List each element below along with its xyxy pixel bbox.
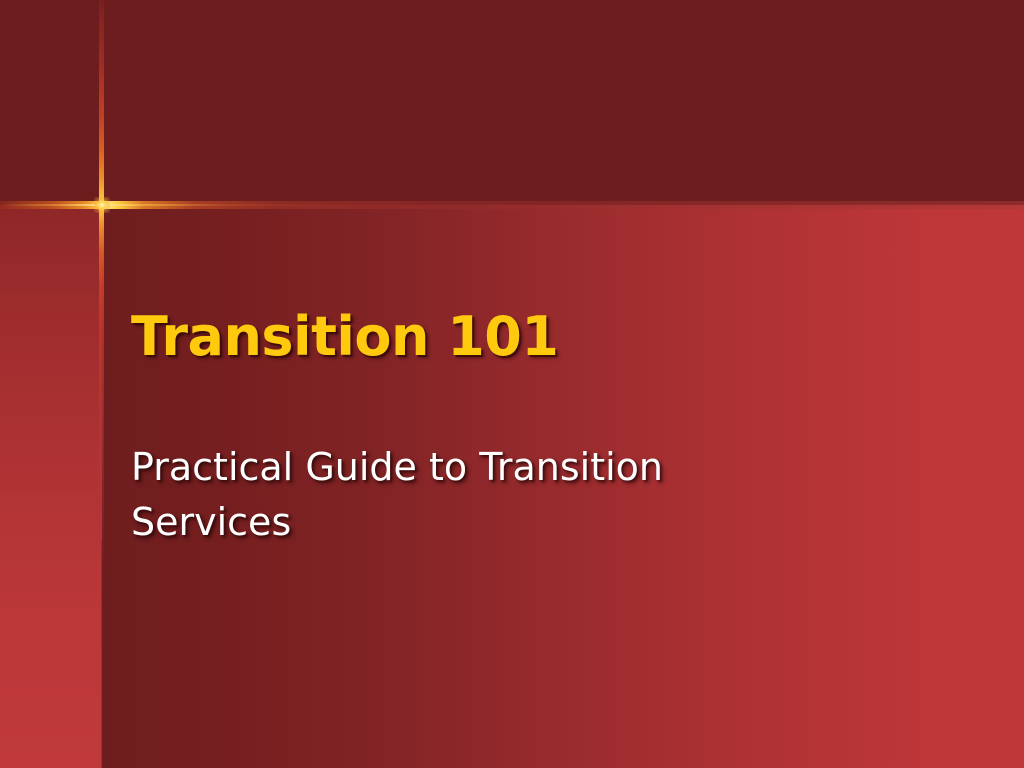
crosshair-vertical-lower-line <box>99 205 104 565</box>
crosshair-horizontal-glow <box>0 204 1024 206</box>
strip-seam <box>101 540 103 768</box>
title-slide: Transition 101 Practical Guide to Transi… <box>0 0 1024 768</box>
left-accent-strip <box>0 205 102 768</box>
crosshair-vertical-upper-line <box>99 0 104 205</box>
slide-subtitle: Practical Guide to Transition Services <box>131 440 731 550</box>
crosshair-center-glow-icon <box>94 197 110 213</box>
top-band <box>0 0 1024 205</box>
slide-title: Transition 101 <box>131 305 558 368</box>
